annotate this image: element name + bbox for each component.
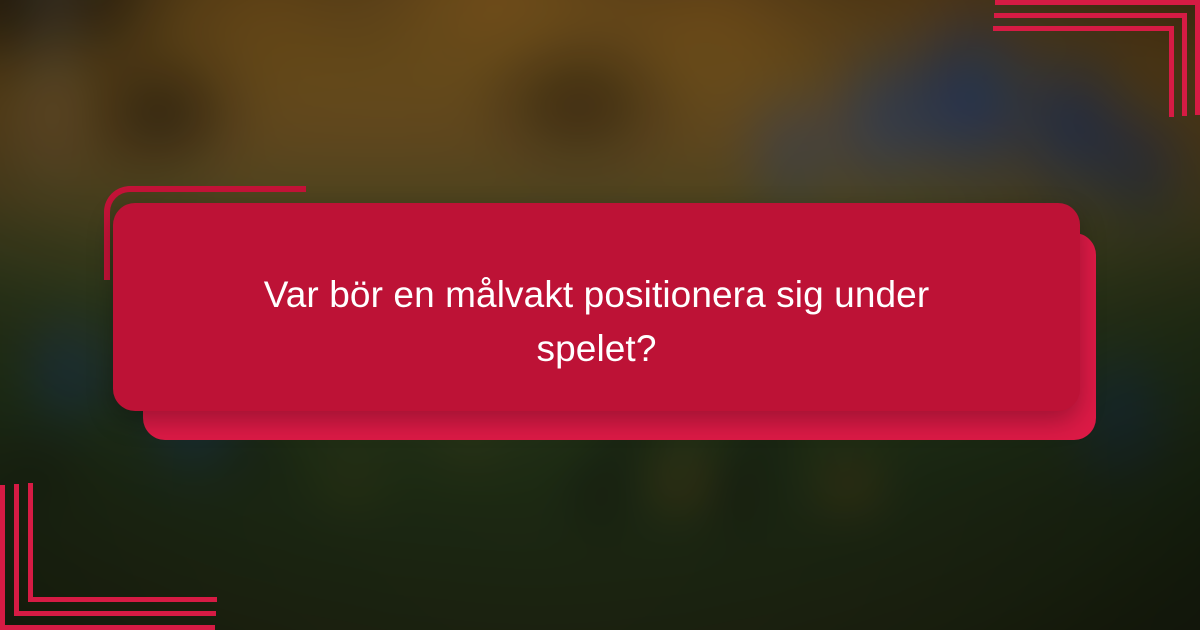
card-text-area: Var bör en målvakt positionera sig under… bbox=[113, 203, 1080, 440]
question-card-banner: Var bör en målvakt positionera sig under… bbox=[0, 0, 1200, 630]
question-text: Var bör en målvakt positionera sig under… bbox=[217, 268, 977, 375]
question-card-stack: Var bör en målvakt positionera sig under… bbox=[0, 0, 1200, 630]
